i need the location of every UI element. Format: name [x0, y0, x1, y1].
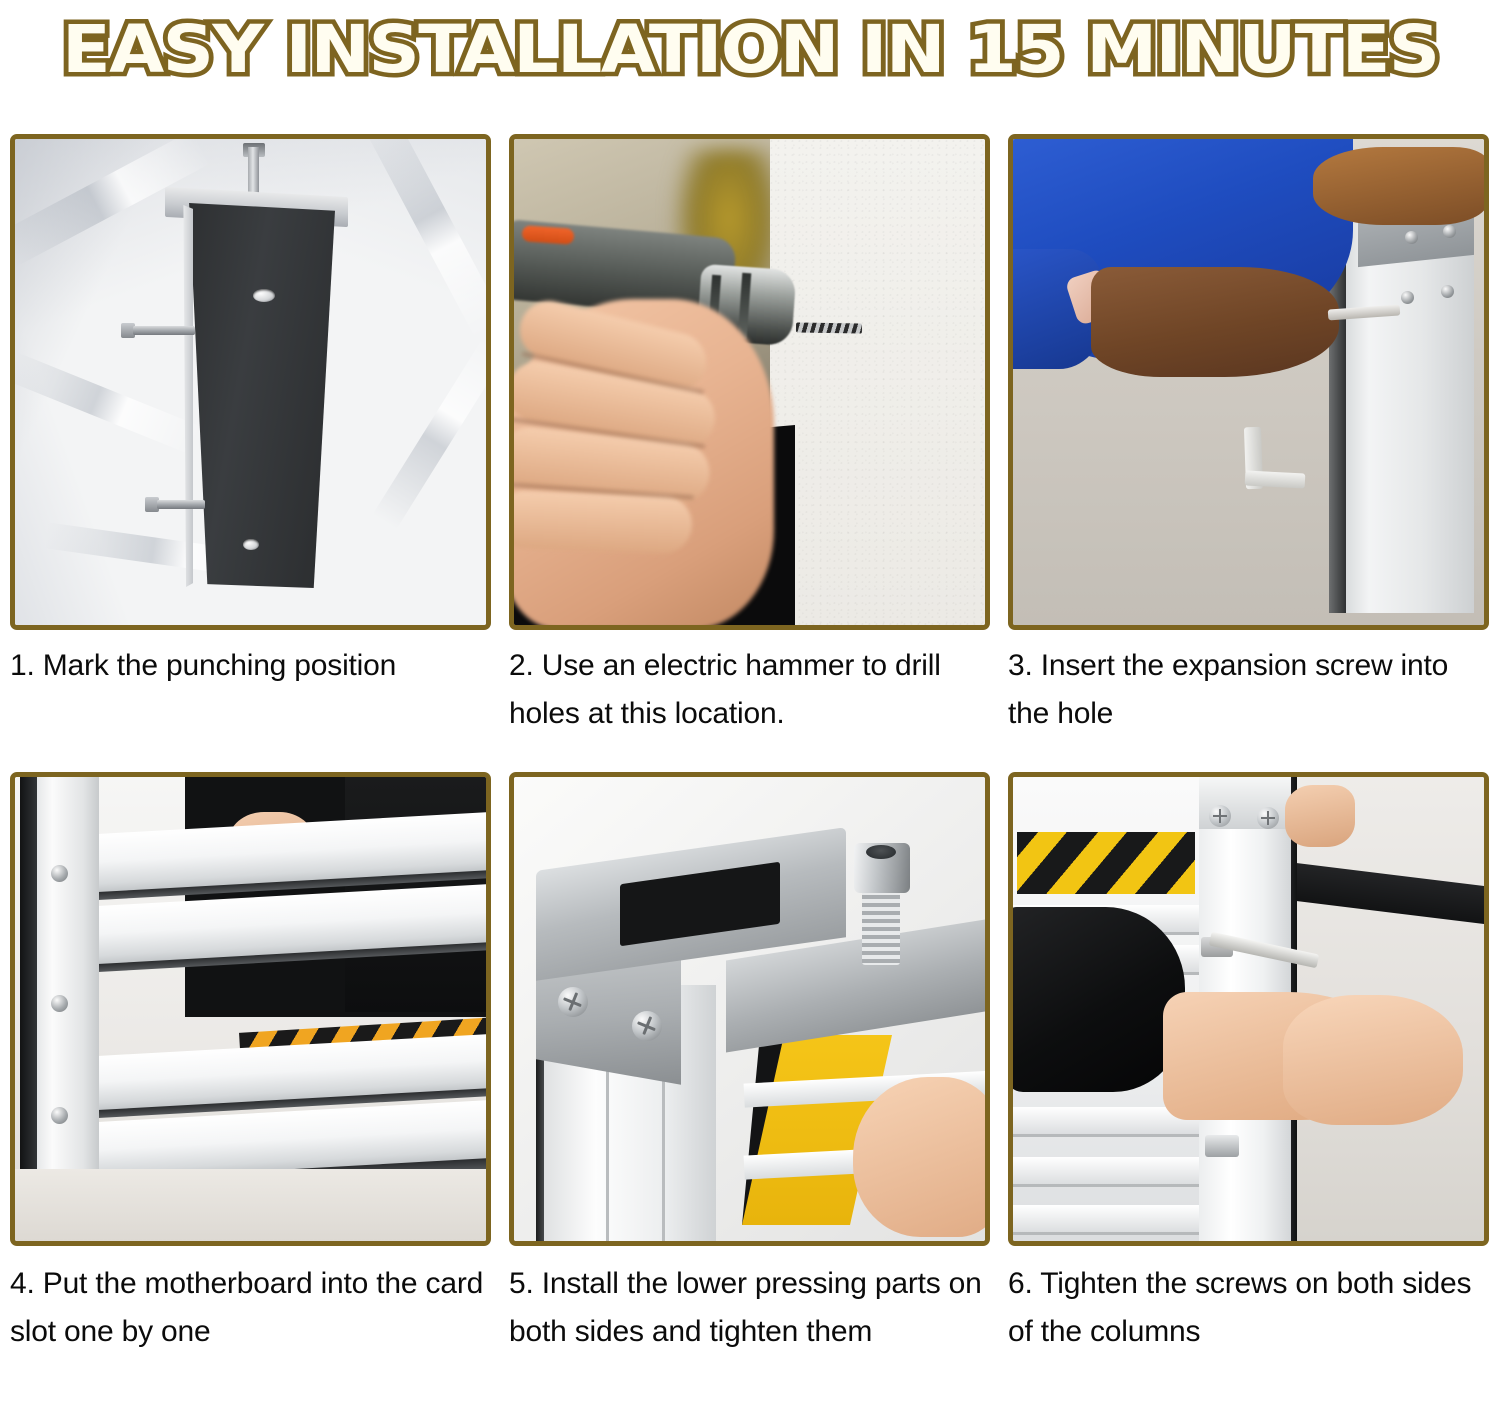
- helper-hand: [1285, 785, 1355, 847]
- installation-post: [37, 777, 99, 1197]
- steps-row-2: [10, 772, 1492, 1246]
- steps-grid: [10, 134, 1492, 630]
- step-image-6: [1013, 777, 1484, 1241]
- installer-hand: [1283, 995, 1463, 1125]
- tightening-bolt-shaft: [862, 883, 900, 965]
- plate-bolt: [1443, 225, 1456, 238]
- page-title: EASY INSTALLATION IN 15 MINUTES: [62, 15, 1438, 85]
- step-photo-1: [10, 134, 491, 630]
- step-caption-4: 4. Put the motherboard into the card slo…: [10, 1260, 491, 1356]
- step-photo-2: [509, 134, 990, 630]
- installer-hand: [853, 1077, 985, 1237]
- step-caption-3: 3. Insert the expansion screw into the h…: [1008, 642, 1489, 738]
- screw-shaft-upper: [133, 326, 195, 335]
- black-sleeve: [1013, 907, 1185, 1092]
- column-screw: [1209, 805, 1231, 827]
- title-banner: EASY INSTALLATION IN 15 MINUTES: [0, 0, 1500, 100]
- post-dark-edge: [20, 777, 38, 1197]
- step-image-5: [514, 777, 985, 1241]
- step-image-2: [514, 139, 985, 625]
- captions-row-2: 4. Put the motherboard into the card slo…: [10, 1260, 1492, 1356]
- installation-infographic: EASY INSTALLATION IN 15 MINUTES: [0, 0, 1500, 1403]
- post-screw: [51, 995, 68, 1012]
- steps-grid-row-2: [10, 772, 1492, 1246]
- bolt-socket: [866, 845, 896, 859]
- step-image-1: [15, 139, 486, 625]
- post-screw: [51, 1107, 68, 1124]
- floor-foreground: [15, 1169, 486, 1241]
- step-caption-2: 2. Use an electric hammer to drill holes…: [509, 642, 990, 738]
- finger: [514, 490, 693, 555]
- textured-wall: [770, 139, 985, 625]
- step-cell-1: [10, 134, 491, 630]
- step-image-3: [1013, 139, 1484, 625]
- step-cell-6: [1008, 772, 1489, 1246]
- screw-shaft-lower: [157, 500, 205, 509]
- mounting-column: [183, 203, 335, 588]
- step-caption-6: 6. Tighten the screws on both sides of t…: [1008, 1260, 1489, 1356]
- barrier-board: [1013, 1157, 1208, 1187]
- captions-row-1: 1. Mark the punching position 2. Use an …: [10, 642, 1492, 738]
- barrier-board: [1013, 1205, 1208, 1235]
- marking-hole-lower: [243, 539, 259, 550]
- allen-key-foot: [1245, 470, 1306, 488]
- post-screw: [51, 865, 68, 882]
- bracket-screw: [558, 987, 588, 1017]
- plate-bolt: [1405, 231, 1418, 244]
- step-image-4: [15, 777, 486, 1241]
- column-screw: [1257, 807, 1279, 829]
- plate-bolt: [1401, 291, 1414, 304]
- step-photo-5: [509, 772, 990, 1246]
- step-cell-5: [509, 772, 990, 1246]
- step-photo-3: [1008, 134, 1489, 630]
- step-caption-1: 1. Mark the punching position: [10, 642, 491, 738]
- top-bolt-shaft: [248, 147, 259, 197]
- step-cell-3: [1008, 134, 1489, 630]
- worker-upper-hand: [1313, 147, 1484, 225]
- lower-lock-bolt: [1205, 1135, 1239, 1157]
- worker-forearm: [1091, 267, 1339, 377]
- step-cell-2: [509, 134, 990, 630]
- marking-hole-upper: [253, 289, 275, 302]
- step-photo-4: [10, 772, 491, 1246]
- drill-bit: [796, 322, 862, 333]
- plate-bolt: [1441, 285, 1454, 298]
- bracket-screw: [632, 1011, 662, 1041]
- step-cell-4: [10, 772, 491, 1246]
- steps-row-1: [10, 134, 1492, 630]
- hazard-stripe: [1017, 832, 1195, 894]
- step-caption-5: 5. Install the lower pressing parts on b…: [509, 1260, 990, 1356]
- step-photo-6: [1008, 772, 1489, 1246]
